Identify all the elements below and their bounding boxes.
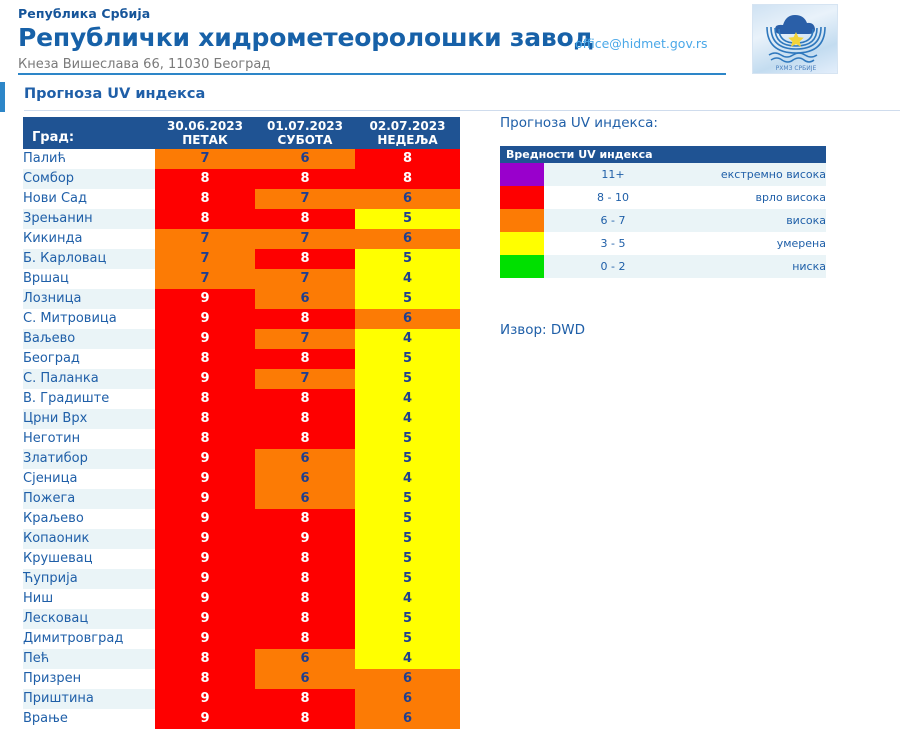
swatch-fill xyxy=(500,186,544,209)
logo-caption: РХМЗ СРБИЈЕ xyxy=(776,65,817,72)
uv-value-cell: 6 xyxy=(255,289,355,309)
uv-value-cell: 5 xyxy=(355,509,460,529)
uv-value-cell: 7 xyxy=(255,329,355,349)
uv-value-cell: 5 xyxy=(355,609,460,629)
uv-value-cell: 9 xyxy=(155,469,255,489)
city-name-cell: Сомбор xyxy=(23,169,155,189)
table-row: Копаоник995 xyxy=(23,529,460,549)
uv-value-cell: 5 xyxy=(355,569,460,589)
city-name-cell: Врање xyxy=(23,709,155,729)
table-row: Златибор965 xyxy=(23,449,460,469)
uv-value-cell: 8 xyxy=(255,509,355,529)
city-name-cell: Кикинда xyxy=(23,229,155,249)
table-row: Пећ864 xyxy=(23,649,460,669)
city-name-cell: Пећ xyxy=(23,649,155,669)
uv-value-cell: 8 xyxy=(155,409,255,429)
table-row: С. Митровица986 xyxy=(23,309,460,329)
legend-range: 6 - 7 xyxy=(544,209,682,232)
table-row: Врање986 xyxy=(23,709,460,729)
uv-value-cell: 6 xyxy=(255,149,355,169)
organization-address: Кнеза Вишеслава 66, 11030 Београд xyxy=(18,56,593,74)
uv-value-cell: 8 xyxy=(155,649,255,669)
city-name-cell: Београд xyxy=(23,349,155,369)
table-row: Палић768 xyxy=(23,149,460,169)
legend-color-swatch xyxy=(500,255,544,278)
header-divider xyxy=(18,73,726,75)
legend-row: 6 - 7висока xyxy=(500,209,826,232)
day-2-name: СУБОТА xyxy=(255,133,355,147)
table-row: Пожега965 xyxy=(23,489,460,509)
city-name-cell: С. Митровица xyxy=(23,309,155,329)
legend-row: 11+екстремно висока xyxy=(500,163,826,186)
city-name-cell: Краљево xyxy=(23,509,155,529)
table-row: Краљево985 xyxy=(23,509,460,529)
uv-value-cell: 5 xyxy=(355,429,460,449)
table-row: Призрен866 xyxy=(23,669,460,689)
city-name-cell: Ћуприја xyxy=(23,569,155,589)
uv-value-cell: 6 xyxy=(255,649,355,669)
uv-value-cell: 7 xyxy=(155,269,255,289)
uv-value-cell: 9 xyxy=(155,689,255,709)
city-name-cell: Димитровград xyxy=(23,629,155,649)
legend-color-swatch xyxy=(500,186,544,209)
uv-value-cell: 7 xyxy=(155,229,255,249)
uv-value-cell: 9 xyxy=(155,629,255,649)
uv-value-cell: 8 xyxy=(155,429,255,449)
uv-value-cell: 8 xyxy=(255,169,355,189)
section-divider xyxy=(24,110,900,111)
uv-value-cell: 9 xyxy=(255,529,355,549)
table-row: Ваљево974 xyxy=(23,329,460,349)
page-root: Република Србија Републички хидрометеоро… xyxy=(0,0,900,734)
contact-email-link[interactable]: office@hidmet.gov.rs xyxy=(575,36,708,51)
legend-description: умерена xyxy=(682,232,826,255)
uv-value-cell: 8 xyxy=(155,389,255,409)
uv-value-cell: 8 xyxy=(155,349,255,369)
uv-value-cell: 7 xyxy=(155,149,255,169)
city-name-cell: Крушевац xyxy=(23,549,155,569)
city-name-cell: Б. Карловац xyxy=(23,249,155,269)
uv-value-cell: 8 xyxy=(255,429,355,449)
uv-value-cell: 6 xyxy=(355,309,460,329)
table-row: Б. Карловац785 xyxy=(23,249,460,269)
uv-value-cell: 8 xyxy=(355,149,460,169)
uv-value-cell: 5 xyxy=(355,369,460,389)
uv-value-cell: 8 xyxy=(255,589,355,609)
uv-value-cell: 9 xyxy=(155,309,255,329)
uv-value-cell: 7 xyxy=(255,269,355,289)
uv-value-cell: 7 xyxy=(255,189,355,209)
table-row: В. Градиште884 xyxy=(23,389,460,409)
table-row: Вршац774 xyxy=(23,269,460,289)
table-row: Зрењанин885 xyxy=(23,209,460,229)
swatch-fill xyxy=(500,255,544,278)
city-name-cell: Палић xyxy=(23,149,155,169)
city-name-cell: Ваљево xyxy=(23,329,155,349)
uv-value-cell: 7 xyxy=(255,229,355,249)
day-3-name: НЕДЕЉА xyxy=(355,133,460,147)
legend-color-swatch xyxy=(500,209,544,232)
uv-value-cell: 6 xyxy=(355,229,460,249)
city-name-cell: Златибор xyxy=(23,449,155,469)
rhmz-logo: РХМЗ СРБИЈЕ xyxy=(752,4,838,74)
uv-forecast-table: Град: 30.06.2023 ПЕТАК 01.07.2023 СУБОТА… xyxy=(23,117,460,729)
uv-value-cell: 9 xyxy=(155,589,255,609)
uv-value-cell: 4 xyxy=(355,269,460,289)
data-source: Извор: DWD xyxy=(500,322,830,338)
legend-row: 8 - 10врло висока xyxy=(500,186,826,209)
uv-value-cell: 8 xyxy=(255,609,355,629)
uv-value-cell: 6 xyxy=(255,469,355,489)
table-row: Сјеница964 xyxy=(23,469,460,489)
uv-value-cell: 6 xyxy=(255,669,355,689)
uv-value-cell: 9 xyxy=(155,549,255,569)
uv-value-cell: 6 xyxy=(255,449,355,469)
column-header-day-3: 02.07.2023 НЕДЕЉА xyxy=(355,117,460,149)
uv-value-cell: 8 xyxy=(255,569,355,589)
table-row: Приштина986 xyxy=(23,689,460,709)
legend-description: врло висока xyxy=(682,186,826,209)
uv-value-cell: 5 xyxy=(355,629,460,649)
uv-value-cell: 5 xyxy=(355,449,460,469)
legend-row: 3 - 5умерена xyxy=(500,232,826,255)
uv-value-cell: 7 xyxy=(255,369,355,389)
legend-description: екстремно висока xyxy=(682,163,826,186)
uv-value-cell: 4 xyxy=(355,329,460,349)
legend-color-swatch xyxy=(500,232,544,255)
uv-value-cell: 9 xyxy=(155,569,255,589)
uv-value-cell: 8 xyxy=(255,209,355,229)
uv-value-cell: 5 xyxy=(355,249,460,269)
uv-value-cell: 4 xyxy=(355,589,460,609)
uv-value-cell: 5 xyxy=(355,209,460,229)
uv-value-cell: 8 xyxy=(355,169,460,189)
city-name-cell: Вршац xyxy=(23,269,155,289)
uv-value-cell: 4 xyxy=(355,389,460,409)
uv-value-cell: 8 xyxy=(155,189,255,209)
uv-value-cell: 7 xyxy=(155,249,255,269)
uv-value-cell: 6 xyxy=(355,189,460,209)
uv-value-cell: 8 xyxy=(255,389,355,409)
page-title: Прогноза UV индекса xyxy=(24,86,205,102)
legend-color-swatch xyxy=(500,163,544,186)
day-3-date: 02.07.2023 xyxy=(355,119,460,133)
table-row: Ћуприја985 xyxy=(23,569,460,589)
table-row: Кикинда776 xyxy=(23,229,460,249)
city-name-cell: Пожега xyxy=(23,489,155,509)
table-row: Неготин885 xyxy=(23,429,460,449)
swatch-fill xyxy=(500,209,544,232)
legend-range: 0 - 2 xyxy=(544,255,682,278)
logo-graphic: РХМЗ СРБИЈЕ xyxy=(753,5,838,74)
city-name-cell: Копаоник xyxy=(23,529,155,549)
day-1-name: ПЕТАК xyxy=(155,133,255,147)
uv-value-cell: 8 xyxy=(255,689,355,709)
legend-range: 8 - 10 xyxy=(544,186,682,209)
uv-value-cell: 8 xyxy=(155,669,255,689)
column-header-city: Град: xyxy=(23,117,155,149)
uv-value-cell: 8 xyxy=(155,169,255,189)
city-name-cell: Неготин xyxy=(23,429,155,449)
city-name-cell: Приштина xyxy=(23,689,155,709)
legend-title: Прогноза UV индекса: xyxy=(500,115,830,131)
organization-block: Република Србија Републички хидрометеоро… xyxy=(18,6,593,74)
legend-header-row: Вредности UV индекса xyxy=(500,146,826,163)
uv-value-cell: 5 xyxy=(355,529,460,549)
left-accent-bar xyxy=(0,82,5,112)
table-header-row: Град: 30.06.2023 ПЕТАК 01.07.2023 СУБОТА… xyxy=(23,117,460,149)
uv-value-cell: 8 xyxy=(255,709,355,729)
city-name-cell: Зрењанин xyxy=(23,209,155,229)
uv-value-cell: 6 xyxy=(355,709,460,729)
column-header-day-1: 30.06.2023 ПЕТАК xyxy=(155,117,255,149)
day-2-date: 01.07.2023 xyxy=(255,119,355,133)
uv-value-cell: 6 xyxy=(355,669,460,689)
city-name-cell: Лозница xyxy=(23,289,155,309)
table-body: Палић768Сомбор888Нови Сад876Зрењанин885К… xyxy=(23,149,460,729)
uv-value-cell: 5 xyxy=(355,549,460,569)
legend-description: висока xyxy=(682,209,826,232)
city-name-cell: Ниш xyxy=(23,589,155,609)
city-name-cell: С. Паланка xyxy=(23,369,155,389)
legend-range: 11+ xyxy=(544,163,682,186)
uv-value-cell: 5 xyxy=(355,349,460,369)
uv-value-cell: 8 xyxy=(155,209,255,229)
uv-value-cell: 9 xyxy=(155,289,255,309)
legend-panel: Прогноза UV индекса: Вредности UV индекс… xyxy=(500,115,830,338)
table-row: Ниш984 xyxy=(23,589,460,609)
uv-value-cell: 6 xyxy=(355,689,460,709)
legend-description: ниска xyxy=(682,255,826,278)
swatch-fill xyxy=(500,232,544,255)
swatch-fill xyxy=(500,163,544,186)
table-row: Лесковац985 xyxy=(23,609,460,629)
uv-value-cell: 8 xyxy=(255,249,355,269)
uv-legend-table: Вредности UV индекса 11+екстремно висока… xyxy=(500,146,826,278)
city-name-cell: Сјеница xyxy=(23,469,155,489)
uv-value-cell: 8 xyxy=(255,309,355,329)
table-head: Град: 30.06.2023 ПЕТАК 01.07.2023 СУБОТА… xyxy=(23,117,460,149)
uv-value-cell: 9 xyxy=(155,609,255,629)
city-name-cell: Лесковац xyxy=(23,609,155,629)
column-header-day-2: 01.07.2023 СУБОТА xyxy=(255,117,355,149)
city-name-cell: Нови Сад xyxy=(23,189,155,209)
uv-value-cell: 9 xyxy=(155,329,255,349)
uv-value-cell: 8 xyxy=(255,549,355,569)
uv-value-cell: 4 xyxy=(355,469,460,489)
city-name-cell: Призрен xyxy=(23,669,155,689)
uv-value-cell: 9 xyxy=(155,509,255,529)
table-row: Сомбор888 xyxy=(23,169,460,189)
table-row: Крушевац985 xyxy=(23,549,460,569)
city-name-cell: В. Градиште xyxy=(23,389,155,409)
uv-value-cell: 5 xyxy=(355,289,460,309)
table-row: Београд885 xyxy=(23,349,460,369)
uv-value-cell: 4 xyxy=(355,409,460,429)
uv-value-cell: 9 xyxy=(155,489,255,509)
uv-value-cell: 9 xyxy=(155,709,255,729)
table-row: Лозница965 xyxy=(23,289,460,309)
uv-value-cell: 9 xyxy=(155,369,255,389)
uv-value-cell: 9 xyxy=(155,449,255,469)
legend-row: 0 - 2ниска xyxy=(500,255,826,278)
table-row: Димитровград985 xyxy=(23,629,460,649)
uv-value-cell: 5 xyxy=(355,489,460,509)
uv-value-cell: 9 xyxy=(155,529,255,549)
legend-header-label: Вредности UV индекса xyxy=(500,146,826,163)
uv-value-cell: 8 xyxy=(255,349,355,369)
table-row: Нови Сад876 xyxy=(23,189,460,209)
organization-name: Републички хидрометеоролошки завод xyxy=(18,23,593,53)
uv-value-cell: 8 xyxy=(255,629,355,649)
uv-value-cell: 8 xyxy=(255,409,355,429)
table-row: Црни Врх884 xyxy=(23,409,460,429)
table-row: С. Паланка975 xyxy=(23,369,460,389)
uv-value-cell: 6 xyxy=(255,489,355,509)
uv-value-cell: 4 xyxy=(355,649,460,669)
day-1-date: 30.06.2023 xyxy=(155,119,255,133)
country-name: Република Србија xyxy=(18,6,593,22)
legend-body: 11+екстремно висока8 - 10врло висока6 - … xyxy=(500,163,826,278)
city-name-cell: Црни Врх xyxy=(23,409,155,429)
legend-range: 3 - 5 xyxy=(544,232,682,255)
